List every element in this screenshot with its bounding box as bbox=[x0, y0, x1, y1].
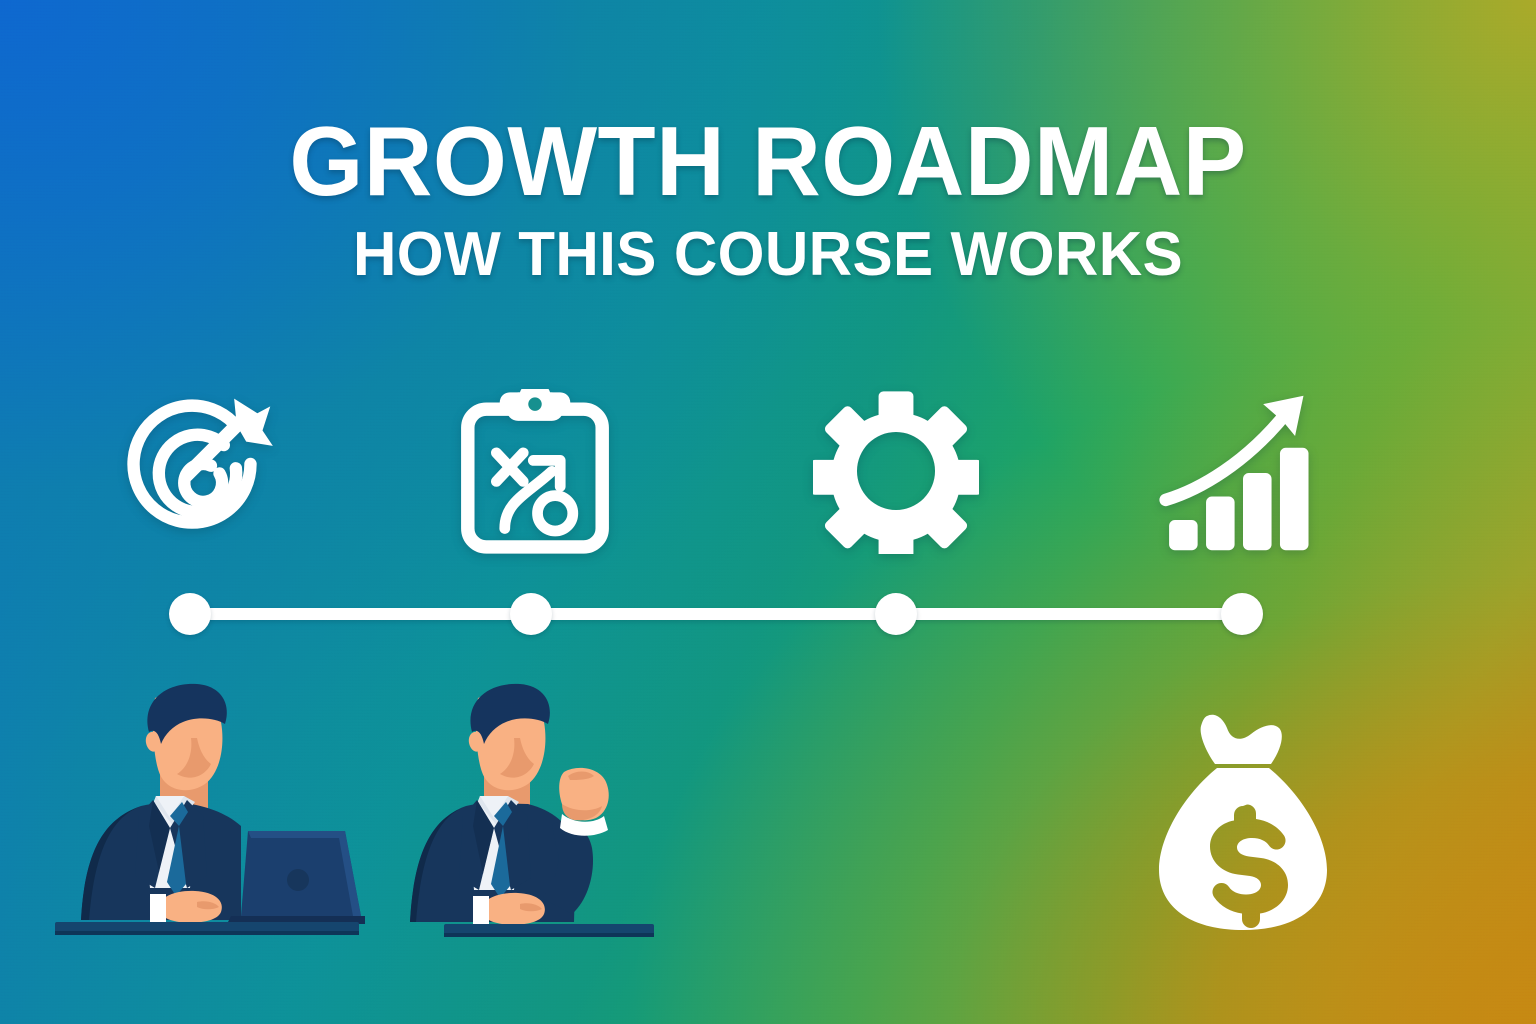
businessman-fist-raised bbox=[392, 676, 654, 948]
poster-canvas: GROWTH ROADMAP HOW THIS COURSE WORKS bbox=[0, 0, 1536, 1024]
title-block: GROWTH ROADMAP HOW THIS COURSE WORKS bbox=[0, 112, 1536, 287]
timeline-dot-2[interactable] bbox=[510, 593, 552, 635]
timeline-dot-4[interactable] bbox=[1221, 593, 1263, 635]
businessman-at-laptop bbox=[55, 676, 365, 946]
clipboard-strategy-icon bbox=[440, 378, 630, 568]
roadmap-timeline bbox=[160, 592, 1255, 638]
gear-icon bbox=[801, 376, 991, 566]
growth-chart-arrow-icon bbox=[1148, 378, 1338, 568]
timeline-bar bbox=[180, 608, 1235, 620]
page-subtitle: HOW THIS COURSE WORKS bbox=[23, 222, 1513, 287]
target-dart-icon bbox=[97, 375, 287, 565]
timeline-dot-1[interactable] bbox=[169, 593, 211, 635]
timeline-dot-3[interactable] bbox=[875, 593, 917, 635]
money-bag-icon bbox=[1155, 710, 1331, 936]
page-title: GROWTH ROADMAP bbox=[23, 112, 1513, 212]
